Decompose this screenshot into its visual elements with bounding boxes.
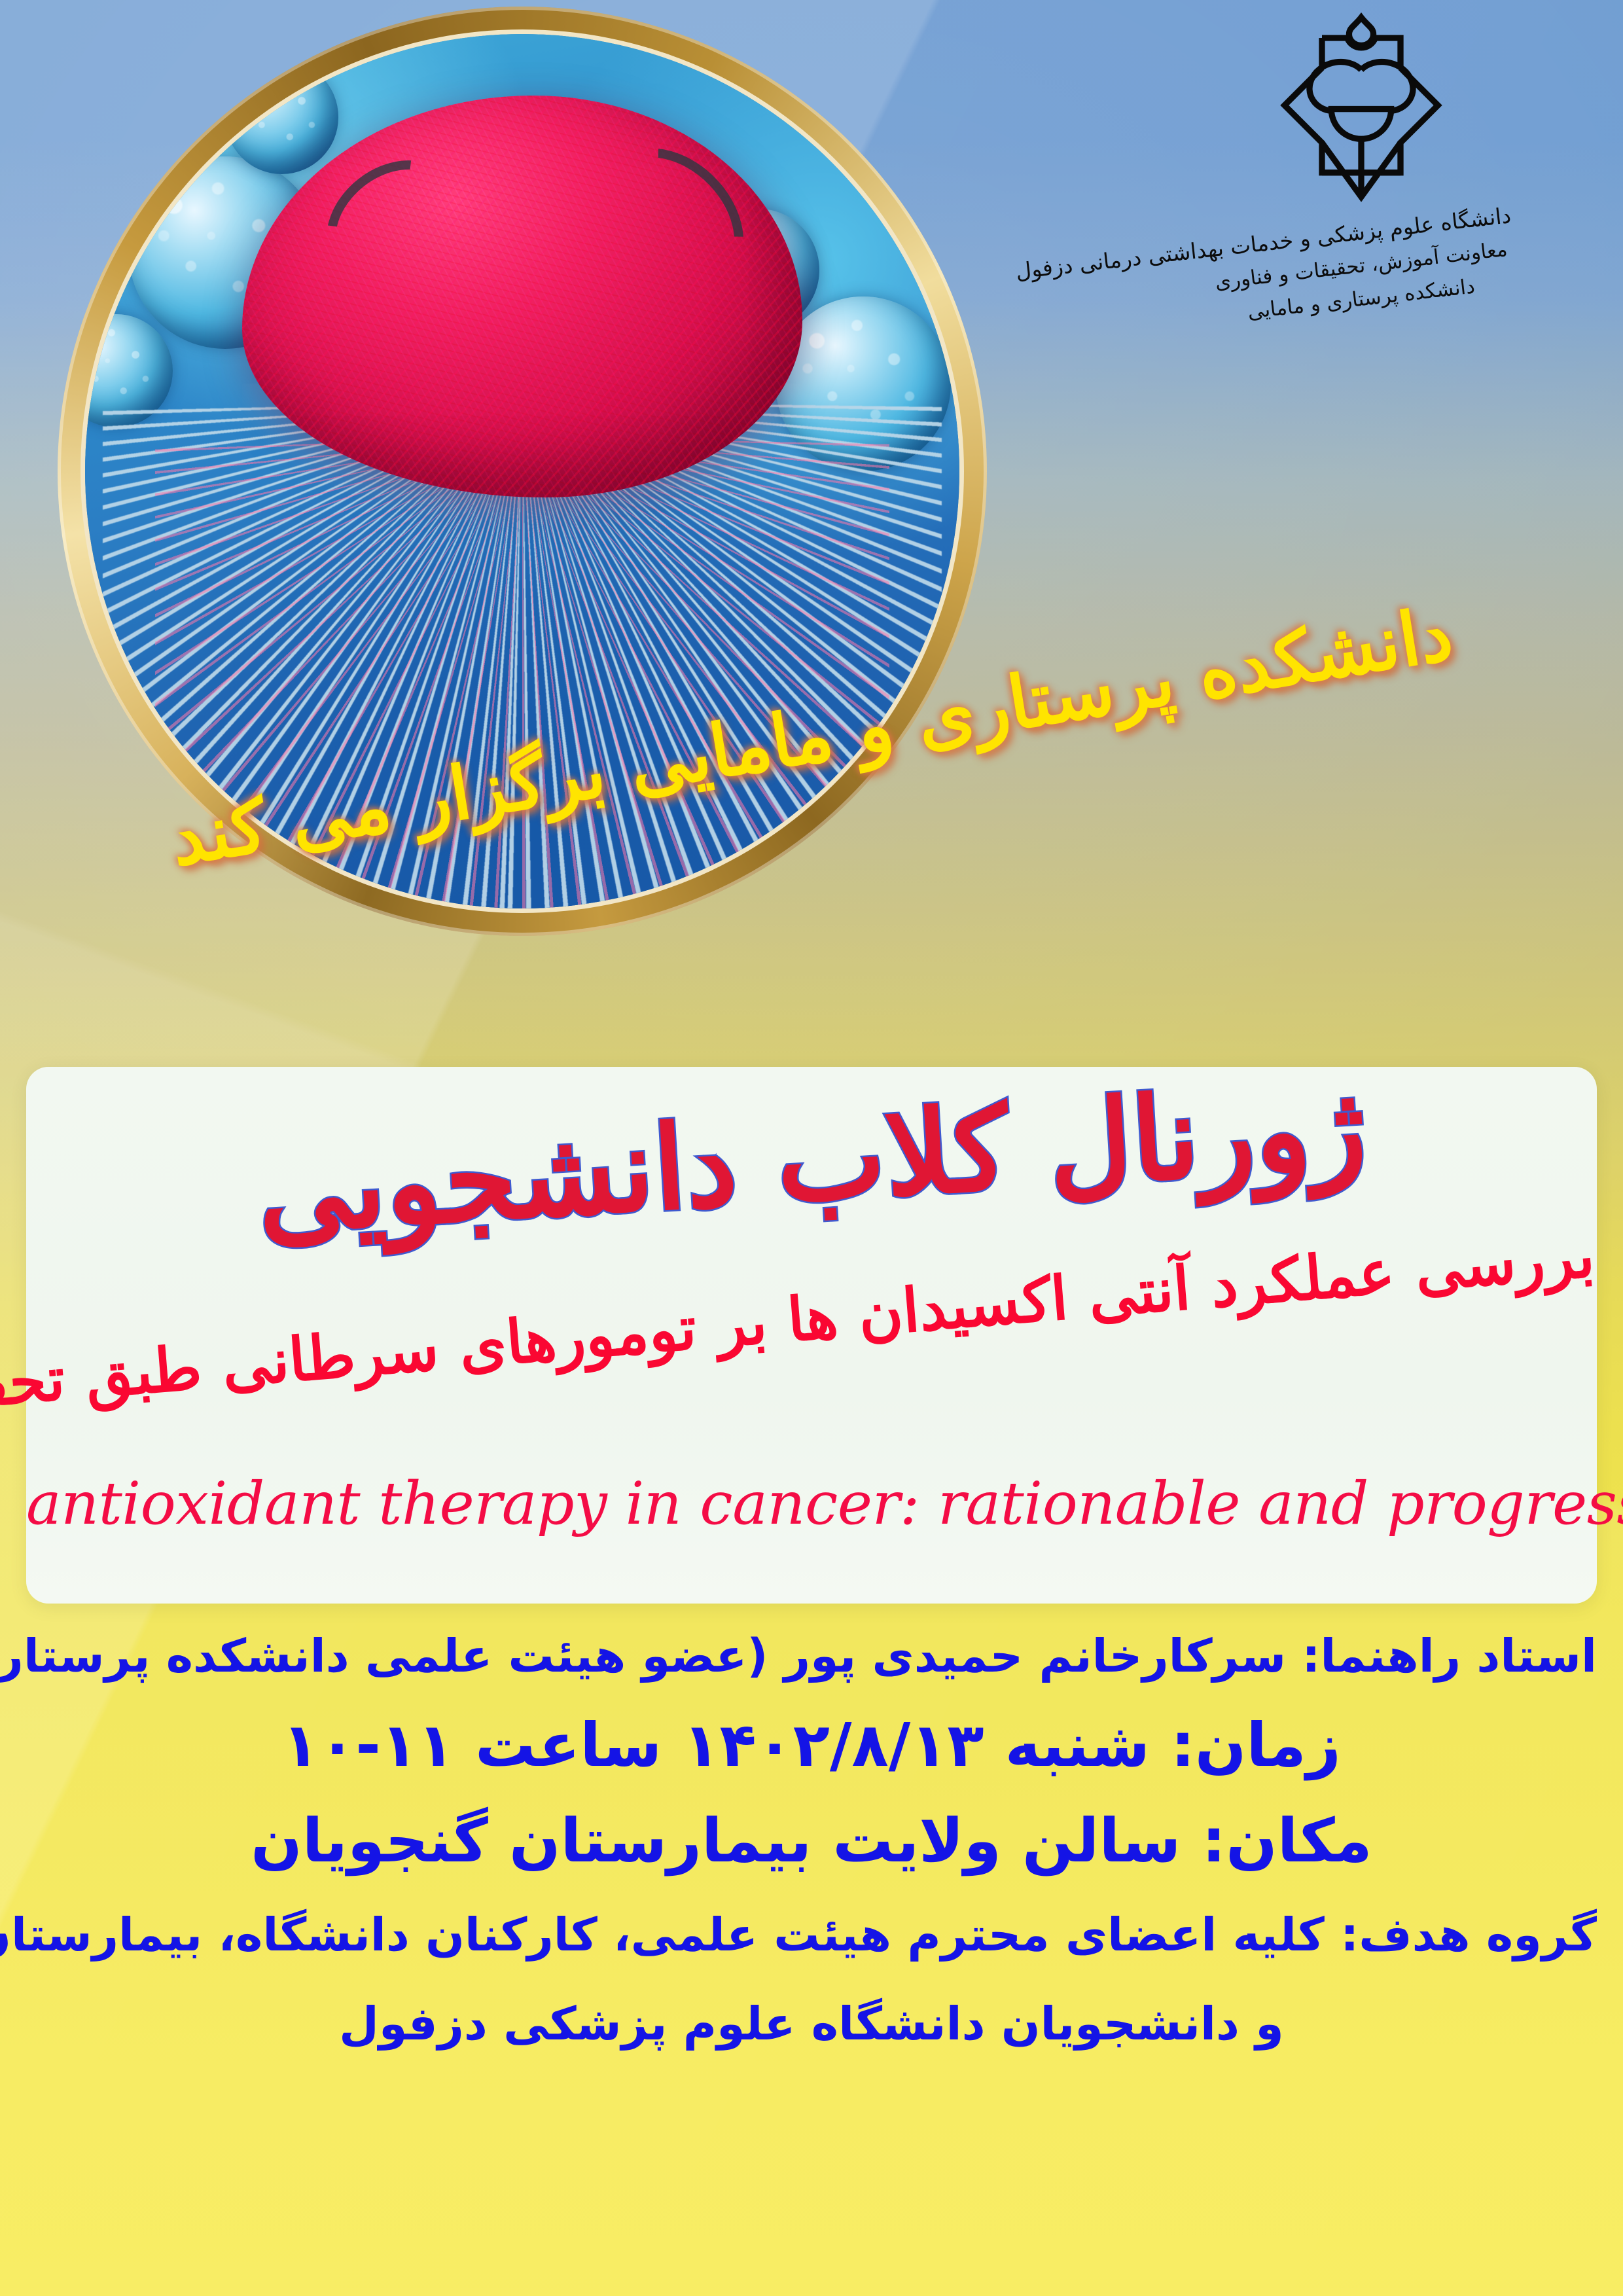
target-group-line-1: گروه هدف: کلیه اعضای محترم هیئت علمی، کا… bbox=[26, 1912, 1597, 1958]
target-group-line-2: و دانشجویان دانشگاه علوم پزشکی دزفول bbox=[26, 2001, 1597, 2047]
university-logo-block: دانشگاه علوم پزشکی و خدمات بهداشتی درمان… bbox=[1211, 12, 1512, 315]
title-card: ژورنال کلاب دانشجویی بررسی عملکرد آنتی ا… bbox=[26, 1067, 1597, 1604]
page-subtitle-en: antioxidant therapy in cancer: rationabl… bbox=[26, 1469, 1597, 1538]
poster-canvas: دانشگاه علوم پزشکی و خدمات بهداشتی درمان… bbox=[0, 0, 1623, 2296]
event-details: استاد راهنما: سرکارخانم حمیدی پور (عضو ه… bbox=[26, 1633, 1597, 2047]
advisor-line: استاد راهنما: سرکارخانم حمیدی پور (عضو ه… bbox=[26, 1633, 1597, 1679]
tumor-cell-body bbox=[242, 96, 802, 498]
university-logo-text: دانشگاه علوم پزشکی و خدمات بهداشتی درمان… bbox=[1211, 215, 1512, 315]
time-line: زمان: شنبه ۱۴۰۲/۸/۱۳ ساعت ۱۱-۱۰ bbox=[26, 1715, 1597, 1776]
dezful-university-of-medical-sciences-emblem-icon bbox=[1263, 12, 1459, 208]
place-line: مکان: سالن ولایت بیمارستان گنجویان bbox=[26, 1811, 1597, 1871]
tumor-fiber-texture bbox=[242, 96, 802, 498]
